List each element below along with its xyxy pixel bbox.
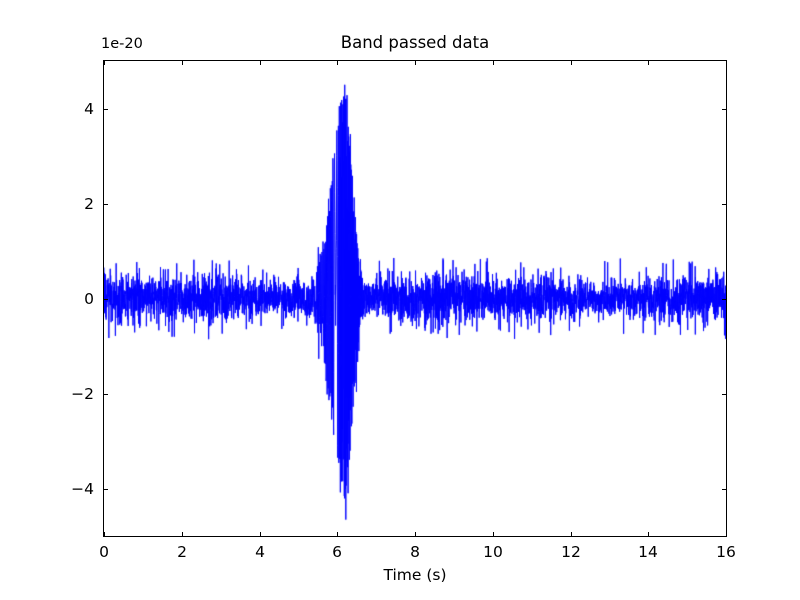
x-tick-mark <box>104 61 105 65</box>
x-tick-label: 6 <box>332 543 342 561</box>
x-tick-mark <box>415 532 416 536</box>
y-tick-mark <box>722 489 726 490</box>
x-tick-mark <box>337 532 338 536</box>
waveform-plot <box>104 61 726 536</box>
x-tick-mark <box>182 61 183 65</box>
x-tick-label: 2 <box>177 543 187 561</box>
x-tick-mark <box>493 532 494 536</box>
x-tick-label: 14 <box>638 543 658 561</box>
y-tick-mark <box>104 394 108 395</box>
x-tick-label: 12 <box>561 543 581 561</box>
x-tick-mark <box>726 61 727 65</box>
y-tick-mark <box>104 204 108 205</box>
x-tick-label: 0 <box>99 543 109 561</box>
y-tick-mark <box>722 394 726 395</box>
x-tick-mark <box>415 61 416 65</box>
y-tick-mark <box>104 489 108 490</box>
x-tick-mark <box>337 61 338 65</box>
x-tick-mark <box>648 532 649 536</box>
plot-axes <box>103 60 727 537</box>
x-tick-label: 10 <box>483 543 503 561</box>
x-tick-label: 8 <box>410 543 420 561</box>
y-tick-label: 4 <box>84 100 94 118</box>
x-tick-label: 16 <box>716 543 736 561</box>
y-tick-label: −4 <box>71 480 94 498</box>
x-tick-mark <box>182 532 183 536</box>
y-tick-mark <box>722 204 726 205</box>
y-tick-mark <box>722 109 726 110</box>
matplotlib-figure: Band passed data 1e-20 0246810121416 −4−… <box>0 0 800 600</box>
x-tick-mark <box>104 532 105 536</box>
y-tick-mark <box>722 299 726 300</box>
x-tick-mark <box>726 532 727 536</box>
x-tick-mark <box>571 532 572 536</box>
x-tick-mark <box>571 61 572 65</box>
y-tick-label: 2 <box>84 195 94 213</box>
y-tick-label: −2 <box>71 385 94 403</box>
y-tick-mark <box>104 299 108 300</box>
y-tick-mark <box>104 109 108 110</box>
x-tick-mark <box>493 61 494 65</box>
y-axis-offset-text: 1e-20 <box>101 36 143 52</box>
x-tick-mark <box>648 61 649 65</box>
x-axis-label: Time (s) <box>103 566 727 584</box>
page-title: Band passed data <box>103 33 727 52</box>
x-tick-label: 4 <box>255 543 265 561</box>
x-tick-mark <box>260 61 261 65</box>
x-tick-mark <box>260 532 261 536</box>
y-tick-label: 0 <box>84 290 94 308</box>
